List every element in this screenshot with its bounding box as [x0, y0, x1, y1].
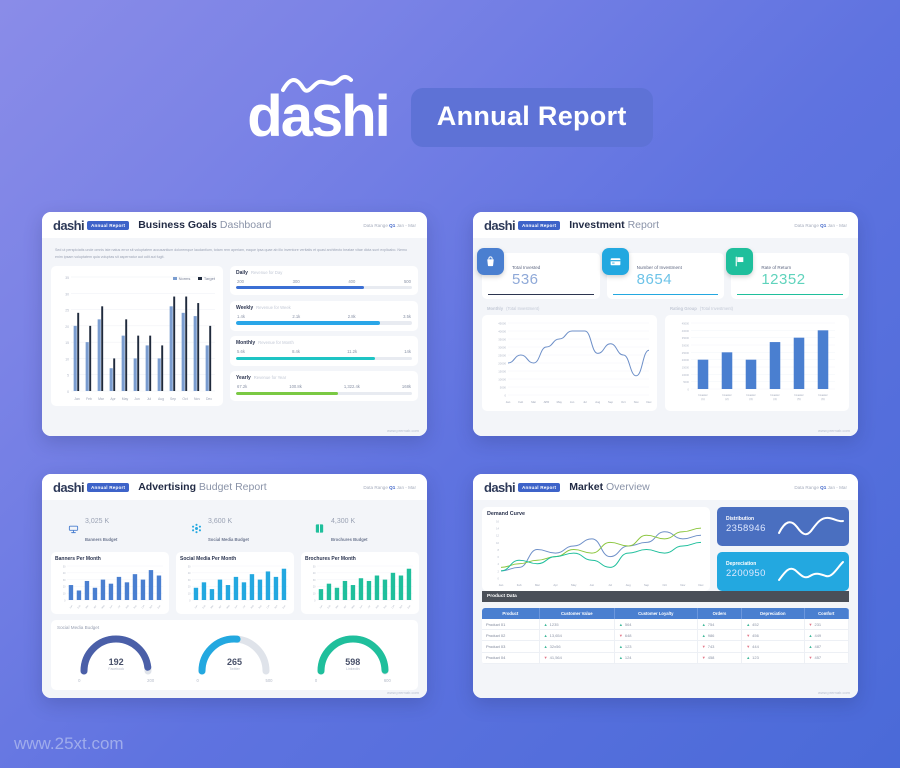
table-col-comfort: Comfort	[804, 608, 848, 619]
svg-text:20: 20	[65, 325, 69, 329]
svg-text:Oct: Oct	[182, 397, 187, 401]
svg-text:50: 50	[188, 565, 191, 568]
slide1-title-bold: Business Goals	[138, 219, 217, 231]
product-data-table-wrap: Product Data ProductCustomer ValueCustom…	[482, 591, 849, 664]
gauge-twitter-value: 265	[192, 657, 276, 667]
svg-text:(2): (2)	[725, 397, 728, 401]
svg-text:45000: 45000	[682, 322, 690, 326]
table-cell: ▲32x56	[539, 641, 614, 652]
monthly-section-title: Monthly(Total Investment)	[484, 306, 657, 312]
slide3-title-rest: Budget Report	[199, 481, 267, 493]
slide3-logo-text: dashi	[53, 481, 84, 494]
table-cell: Product 04	[482, 652, 539, 663]
svg-text:Investor: Investor	[794, 393, 803, 397]
svg-text:20: 20	[313, 586, 316, 589]
svg-text:0: 0	[314, 599, 316, 602]
table-cell: ▲124	[614, 652, 697, 663]
slide4-range-label: Data Range	[794, 485, 819, 490]
svg-text:30000: 30000	[682, 344, 690, 348]
svg-text:Apr: Apr	[218, 604, 223, 609]
svg-text:Mar: Mar	[98, 397, 105, 401]
svg-text:Apr: Apr	[553, 583, 557, 587]
slide1-logo-text: dashi	[53, 219, 84, 232]
budget-social-label: Social Media Budget	[208, 537, 249, 542]
svg-text:25: 25	[65, 308, 69, 312]
progress-card-yearly[interactable]: YearlyRevenue for Year 67.2k100.8k1,322.…	[230, 371, 418, 401]
svg-text:0: 0	[189, 599, 191, 602]
svg-text:May: May	[102, 604, 107, 609]
table-cell: ▲13,654	[539, 630, 614, 641]
table-cell: ▼458	[697, 652, 741, 663]
rating-bar-svg: 0500010000150002000025000300003500040000…	[669, 319, 839, 407]
table-col-orders: Orders	[697, 608, 741, 619]
table-row[interactable]: Product 04▼41,564▲124▼458▲123▼457	[482, 652, 849, 663]
table-cell: ▲123	[742, 652, 804, 663]
kpi-rate-of-return[interactable]: Rate of Return 12352	[731, 253, 849, 299]
gauges-title: Social Media Budget	[57, 625, 412, 630]
progress-card-monthly[interactable]: MonthlyRevenue for Month 5.6k8.4k11.2k14…	[230, 336, 418, 366]
arrow-up-icon: ▲	[746, 622, 750, 627]
svg-text:15: 15	[65, 341, 69, 345]
kpi-underline	[488, 294, 594, 295]
kpi-total-invested[interactable]: Total Invested 536	[482, 253, 600, 299]
svg-text:0: 0	[504, 394, 506, 398]
gauge-linkedin-value: 598	[311, 657, 395, 667]
gauge-facebook-sub: Facebook	[74, 667, 158, 671]
slide1-badge: Annual Report	[87, 221, 129, 230]
slide2-range-label: Data Range	[794, 223, 819, 228]
kpi-number-of-investment[interactable]: Number of Investment 8654	[607, 253, 725, 299]
share-icon	[190, 522, 203, 535]
svg-text:50: 50	[63, 565, 66, 568]
svg-text:Aug: Aug	[250, 604, 255, 610]
slide4-title: Market Overview	[569, 481, 650, 493]
legend-norms: Norms	[173, 276, 190, 281]
slide-investment-report[interactable]: dashi Annual Report Investment Report Da…	[473, 212, 858, 436]
kpi-total-invested-value: 536	[512, 271, 594, 288]
table-row[interactable]: Product 03▲32x56▲123▼743▼444▲487	[482, 641, 849, 652]
kpi-number-of-investment-value: 8654	[637, 271, 719, 288]
svg-text:Jun: Jun	[110, 605, 114, 610]
svg-text:May: May	[352, 604, 357, 609]
svg-text:Feb: Feb	[203, 604, 207, 609]
table-row[interactable]: Product 02▲13,654▼648▲986▼456▲449	[482, 630, 849, 641]
slide1-date-range[interactable]: Data Range Q1 Jan - Mar	[363, 223, 416, 228]
svg-text:Jul: Jul	[243, 605, 247, 609]
arrow-up-icon: ▲	[809, 633, 813, 638]
book-icon	[313, 522, 326, 535]
svg-text:Oct: Oct	[266, 604, 271, 609]
svg-text:Nov: Nov	[400, 604, 404, 609]
svg-text:(4): (4)	[773, 397, 776, 401]
bar-chart-svg: 05101520253035 JanFebMarAprMayJunJulAugS…	[55, 271, 219, 405]
slide4-range-months: Jan - Mar	[828, 485, 847, 490]
budget-stat-social[interactable]: 3,600 K Social Media Budget	[176, 510, 293, 546]
table-col-product: Product	[482, 608, 539, 619]
slide1-body: Sed ut perspiciatis unde omnis iste natu…	[42, 238, 427, 436]
svg-text:20: 20	[63, 586, 66, 589]
slide1-range-q: Q1	[389, 223, 395, 228]
svg-text:Apr: Apr	[93, 604, 98, 609]
svg-text:Sep: Sep	[134, 604, 138, 609]
slide1-title-rest: Dashboard	[220, 219, 271, 231]
budget-stat-brochures[interactable]: 4,300 K Brochures Budget	[299, 510, 416, 546]
mini-chart-social[interactable]: Social Media Per Month 01020304050JanFeb…	[176, 552, 294, 614]
svg-text:Feb: Feb	[328, 604, 332, 609]
progress-weekly-scale: 1.4k2.1k2.8k3.5k	[237, 314, 411, 319]
svg-text:Nov: Nov	[150, 604, 154, 609]
svg-text:Investor: Investor	[746, 393, 755, 397]
table-header-row: ProductCustomer ValueCustomer LoyaltyOrd…	[482, 608, 849, 619]
svg-text:45000: 45000	[498, 322, 506, 326]
svg-text:Jun: Jun	[570, 400, 575, 404]
slide3-logo: dashi Annual Report	[53, 481, 129, 494]
slide1-lorem: Sed ut perspiciatis unde omnis iste natu…	[51, 245, 418, 266]
arrow-down-icon: ▼	[702, 644, 706, 649]
demand-curve-chart[interactable]: Demand Curve 0246810121416JanFebMarAprMa…	[482, 507, 710, 591]
slide2-header: dashi Annual Report Investment Report Da…	[473, 212, 858, 238]
arrow-up-icon: ▲	[746, 655, 750, 660]
business-goals-bar-chart[interactable]: Norms Target 05101520253035 JanFebMarApr…	[51, 266, 223, 406]
progress-weekly-title: WeeklyRevenue for Week	[236, 305, 412, 311]
svg-text:Aug: Aug	[375, 604, 380, 610]
svg-text:Mar: Mar	[85, 604, 90, 609]
title-banner: dashi Annual Report	[0, 82, 900, 152]
dashi-logo: dashi	[247, 88, 389, 146]
slide2-range-months: Jan - Mar	[828, 223, 847, 228]
rating-section-title: Rating Group(Total Investment)	[667, 306, 849, 312]
svg-text:12: 12	[496, 534, 499, 538]
gauge-twitter-scale: 0500	[192, 678, 276, 683]
table-cell: ▼231	[804, 619, 848, 630]
svg-text:Nov: Nov	[634, 400, 640, 404]
table-cell: Product 02	[482, 630, 539, 641]
slide1-title: Business Goals Dashboard	[138, 219, 271, 231]
flag-icon	[726, 248, 753, 275]
slide1-header: dashi Annual Report Business Goals Dashb…	[42, 212, 427, 238]
slide3-body: 3,025 K Banners Budget 3,600 K Social Me…	[42, 500, 427, 698]
slide-advertising-budget[interactable]: dashi Annual Report Advertising Budget R…	[42, 474, 427, 698]
table-cell: ▼444	[742, 641, 804, 652]
budget-banners-value: 3,025 K	[85, 518, 109, 525]
arrow-down-icon: ▼	[702, 655, 706, 660]
slide2-body: Total Invested 536 Number of Investment …	[473, 238, 858, 436]
progress-daily-bar	[236, 286, 412, 289]
progress-card-daily[interactable]: DailyRevenue for Day 200300400500	[230, 266, 418, 296]
arrow-down-icon: ▼	[746, 644, 750, 649]
table-cell: Product 03	[482, 641, 539, 652]
arrow-up-icon: ▲	[619, 622, 623, 627]
slide4-date-range[interactable]: Data Range Q1 Jan - Mar	[794, 485, 847, 490]
table-cell: ▼648	[614, 630, 697, 641]
kpi-rate-of-return-label: Rate of Return	[761, 265, 843, 270]
svg-text:May: May	[557, 400, 563, 404]
svg-text:(6): (6)	[821, 397, 824, 401]
svg-text:Jan: Jan	[506, 400, 511, 404]
slide1-range-months: Jan - Mar	[397, 223, 416, 228]
progress-weekly-bar	[236, 321, 412, 324]
arrow-down-icon: ▼	[619, 633, 623, 638]
slide3-date-range[interactable]: Data Range Q1 Jan - Mar	[363, 485, 416, 490]
svg-text:Jul: Jul	[368, 605, 372, 609]
svg-text:20: 20	[188, 586, 191, 589]
slide1-range-label: Data Range	[363, 223, 388, 228]
arrow-up-icon: ▲	[809, 644, 813, 649]
mini-brochures-title: Brochures Per Month	[305, 556, 415, 562]
table-cell: ▲754	[697, 619, 741, 630]
slide3-range-q: Q1	[389, 485, 395, 490]
svg-text:5000: 5000	[683, 380, 689, 384]
slide4-badge: Annual Report	[518, 483, 560, 492]
svg-text:Sep: Sep	[170, 397, 176, 401]
svg-text:(5): (5)	[797, 397, 800, 401]
svg-text:0: 0	[498, 576, 500, 580]
svg-text:Jul: Jul	[583, 400, 587, 404]
table-cell: ▲123	[614, 641, 697, 652]
svg-text:Oct: Oct	[141, 604, 146, 609]
slide4-title-bold: Market	[569, 481, 603, 493]
market-tiles: Distribution 2358946 Depreciation 220095…	[717, 507, 849, 591]
svg-text:40: 40	[313, 572, 316, 575]
budget-banners-label: Banners Budget	[85, 537, 117, 542]
tile-depreciation-sparkline	[777, 558, 845, 586]
progress-yearly-bar	[236, 392, 412, 395]
svg-text:Sep: Sep	[259, 604, 263, 609]
svg-text:Sep: Sep	[608, 400, 613, 404]
table-cell: ▲1235	[539, 619, 614, 630]
budget-stats-row: 3,025 K Banners Budget 3,600 K Social Me…	[51, 507, 418, 552]
svg-text:Aug: Aug	[626, 583, 631, 587]
svg-text:15000: 15000	[498, 370, 506, 374]
budget-stat-banners[interactable]: 3,025 K Banners Budget	[53, 510, 170, 546]
table-cell: ▲986	[697, 630, 741, 641]
svg-text:(1): (1)	[701, 397, 704, 401]
table-cell: ▼457	[804, 652, 848, 663]
svg-text:Feb: Feb	[518, 400, 523, 404]
svg-text:Feb: Feb	[517, 583, 522, 587]
svg-text:May: May	[122, 397, 129, 401]
svg-text:35: 35	[65, 276, 69, 280]
svg-text:10: 10	[188, 593, 191, 596]
svg-text:Dec: Dec	[283, 604, 287, 609]
progress-yearly-title: YearlyRevenue for Year	[236, 375, 412, 381]
svg-text:Jul: Jul	[118, 605, 122, 609]
arrow-down-icon: ▼	[809, 655, 813, 660]
svg-text:8: 8	[498, 548, 500, 552]
gauge-linkedin[interactable]: 598 LinkedIn 0600	[311, 631, 395, 683]
svg-text:APR: APR	[544, 400, 550, 404]
table-cell: ▲452	[742, 619, 804, 630]
svg-text:Jan: Jan	[320, 605, 324, 610]
svg-text:Nov: Nov	[194, 397, 200, 401]
svg-text:5: 5	[67, 373, 69, 377]
kpi-underline	[613, 294, 719, 295]
slide2-credit: www.prernab.com	[818, 428, 850, 433]
svg-text:Aug: Aug	[158, 397, 164, 401]
svg-text:10: 10	[496, 541, 499, 545]
progress-card-weekly[interactable]: WeeklyRevenue for Week 1.4k2.1k2.8k3.5k	[230, 301, 418, 331]
kpi-underline	[737, 294, 843, 295]
mini-brochures-svg: 01020304050JanFebMarAprMayJunJulAugSepOc…	[305, 563, 415, 611]
rating-group-bar-chart[interactable]: 0500010000150002000025000300003500040000…	[665, 315, 849, 411]
budget-brochures-label: Brochures Budget	[331, 537, 368, 542]
slide2-title-rest: Report	[628, 219, 660, 231]
svg-text:20000: 20000	[498, 362, 506, 366]
product-data-table[interactable]: ProductCustomer ValueCustomer LoyaltyOrd…	[482, 608, 849, 664]
arrow-up-icon: ▲	[619, 644, 623, 649]
card-icon	[602, 248, 629, 275]
kpi-rate-of-return-value: 12352	[761, 271, 843, 288]
svg-text:Oct: Oct	[662, 583, 667, 587]
progress-monthly-title: MonthlyRevenue for Month	[236, 340, 412, 346]
slide2-title-bold: Investment	[569, 219, 624, 231]
svg-text:20000: 20000	[682, 358, 690, 362]
svg-text:Aug: Aug	[595, 400, 600, 404]
svg-text:Sep: Sep	[384, 604, 388, 609]
mini-social-title: Social Media Per Month	[180, 556, 290, 562]
page-watermark: www.25xt.com	[14, 734, 124, 754]
svg-text:Jul: Jul	[147, 397, 152, 401]
progress-daily-title: DailyRevenue for Day	[236, 270, 412, 276]
svg-text:(3): (3)	[749, 397, 752, 401]
gauge-linkedin-sub: LinkedIn	[311, 667, 395, 671]
svg-text:Dec: Dec	[158, 604, 162, 609]
mini-chart-brochures[interactable]: Brochures Per Month 01020304050JanFebMar…	[301, 552, 419, 614]
svg-text:40000: 40000	[498, 330, 506, 334]
arrow-down-icon: ▼	[746, 633, 750, 638]
arrow-up-icon: ▲	[702, 622, 706, 627]
slide2-logo: dashi Annual Report	[484, 219, 560, 232]
logo-squiggle-icon	[281, 74, 353, 98]
svg-text:30: 30	[313, 579, 316, 582]
mini-charts-row: Banners Per Month 01020304050JanFebMarAp…	[51, 552, 418, 614]
arrow-up-icon: ▲	[544, 622, 548, 627]
monthly-line-chart[interactable]: 0500010000150002000025000300003500040000…	[482, 315, 657, 411]
slide2-title: Investment Report	[569, 219, 659, 231]
svg-text:40: 40	[63, 572, 66, 575]
arrow-up-icon: ▲	[544, 633, 548, 638]
gauge-linkedin-scale: 0600	[311, 678, 395, 683]
slide4-title-rest: Overview	[606, 481, 650, 493]
slide4-credit: www.prernab.com	[818, 690, 850, 695]
svg-text:Jul: Jul	[608, 583, 612, 587]
svg-text:Dec: Dec	[647, 400, 653, 404]
table-cell: ▲449	[804, 630, 848, 641]
gauge-facebook[interactable]: 192 Facebook 0200	[74, 631, 158, 683]
svg-text:Jun: Jun	[360, 605, 364, 610]
svg-text:Aug: Aug	[125, 604, 130, 610]
svg-text:May: May	[227, 604, 232, 609]
table-row[interactable]: Product 01▲1235▲564▲754▲452▼231	[482, 619, 849, 630]
mini-social-svg: 01020304050JanFebMarAprMayJunJulAugSepOc…	[180, 563, 290, 611]
slide3-credit: www.prernab.com	[387, 690, 419, 695]
slide1-credit: www.prernab.com	[387, 428, 419, 433]
monthly-line-svg: 0500010000150002000025000300003500040000…	[486, 319, 653, 407]
table-cell: ▲487	[804, 641, 848, 652]
svg-text:4: 4	[498, 562, 500, 566]
svg-text:Dec: Dec	[699, 583, 705, 587]
arrow-up-icon: ▲	[619, 655, 623, 660]
slide-market-overview[interactable]: dashi Annual Report Market Overview Data…	[473, 474, 858, 698]
svg-text:5000: 5000	[500, 386, 507, 390]
tile-depreciation[interactable]: Depreciation 2200950	[717, 552, 849, 591]
gauge-twitter[interactable]: 265 Twitter 0500	[192, 631, 276, 683]
mini-banners-title: Banners Per Month	[55, 556, 165, 562]
svg-text:Jun: Jun	[235, 605, 239, 610]
tile-distribution[interactable]: Distribution 2358946	[717, 507, 849, 546]
arrow-up-icon: ▲	[702, 633, 706, 638]
progress-monthly-scale: 5.6k8.4k11.2k14k	[237, 349, 411, 354]
svg-text:0: 0	[688, 388, 690, 392]
svg-text:Mar: Mar	[535, 583, 540, 587]
svg-text:0: 0	[67, 390, 69, 394]
svg-text:Mar: Mar	[531, 400, 536, 404]
table-cell: ▼743	[697, 641, 741, 652]
slide-business-goals[interactable]: dashi Annual Report Business Goals Dashb…	[42, 212, 427, 436]
budget-brochures-value: 4,300 K	[331, 518, 355, 525]
table-cell: ▼41,564	[539, 652, 614, 663]
slide2-range-q: Q1	[820, 223, 826, 228]
svg-text:Nov: Nov	[680, 583, 686, 587]
slide4-body: Demand Curve 0246810121416JanFebMarAprMa…	[473, 500, 858, 698]
svg-text:Nov: Nov	[275, 604, 279, 609]
progress-yearly-scale: 67.2k100.8k1,322.4k168k	[237, 384, 411, 389]
svg-text:Investor: Investor	[818, 393, 827, 397]
svg-text:30: 30	[63, 579, 66, 582]
slide2-date-range[interactable]: Data Range Q1 Jan - Mar	[794, 223, 847, 228]
arrow-up-icon: ▲	[544, 644, 548, 649]
slide3-title-bold: Advertising	[138, 481, 196, 493]
arrow-down-icon: ▼	[809, 622, 813, 627]
svg-text:6: 6	[498, 555, 500, 559]
table-cell: Product 01	[482, 619, 539, 630]
svg-text:Investor: Investor	[722, 393, 731, 397]
svg-text:Jan: Jan	[70, 605, 74, 610]
svg-text:40: 40	[188, 572, 191, 575]
svg-text:Sep: Sep	[644, 583, 649, 587]
svg-text:Feb: Feb	[78, 604, 82, 609]
svg-text:25000: 25000	[498, 354, 506, 358]
table-cell: ▲564	[614, 619, 697, 630]
progress-monthly-bar	[236, 357, 412, 360]
svg-text:Jan: Jan	[74, 397, 80, 401]
svg-text:May: May	[571, 583, 577, 587]
svg-text:Investor: Investor	[698, 393, 707, 397]
svg-text:14: 14	[496, 527, 499, 531]
svg-text:35000: 35000	[682, 336, 690, 340]
svg-text:40000: 40000	[682, 329, 690, 333]
gauges-section: Social Media Budget 192 Facebook 0200	[51, 620, 418, 690]
demand-curve-svg: 0246810121416JanFebMarAprMayJunJulAugSep…	[487, 517, 705, 589]
svg-text:30: 30	[188, 579, 191, 582]
mini-chart-banners[interactable]: Banners Per Month 01020304050JanFebMarAp…	[51, 552, 169, 614]
svg-text:30000: 30000	[498, 346, 506, 350]
svg-text:Jun: Jun	[590, 583, 595, 587]
table-col-customer-value: Customer Value	[539, 608, 614, 619]
svg-text:Oct: Oct	[621, 400, 626, 404]
svg-text:Feb: Feb	[86, 397, 92, 401]
svg-text:2: 2	[498, 569, 500, 573]
slide4-logo: dashi Annual Report	[484, 481, 560, 494]
slide3-range-label: Data Range	[363, 485, 388, 490]
slide4-logo-text: dashi	[484, 481, 515, 494]
bag-icon	[477, 248, 504, 275]
svg-text:16: 16	[496, 519, 499, 523]
progress-daily-scale: 200300400500	[237, 279, 411, 284]
kpi-number-of-investment-label: Number of Investment	[637, 265, 719, 270]
svg-text:0: 0	[64, 599, 66, 602]
gauge-facebook-value: 192	[74, 657, 158, 667]
